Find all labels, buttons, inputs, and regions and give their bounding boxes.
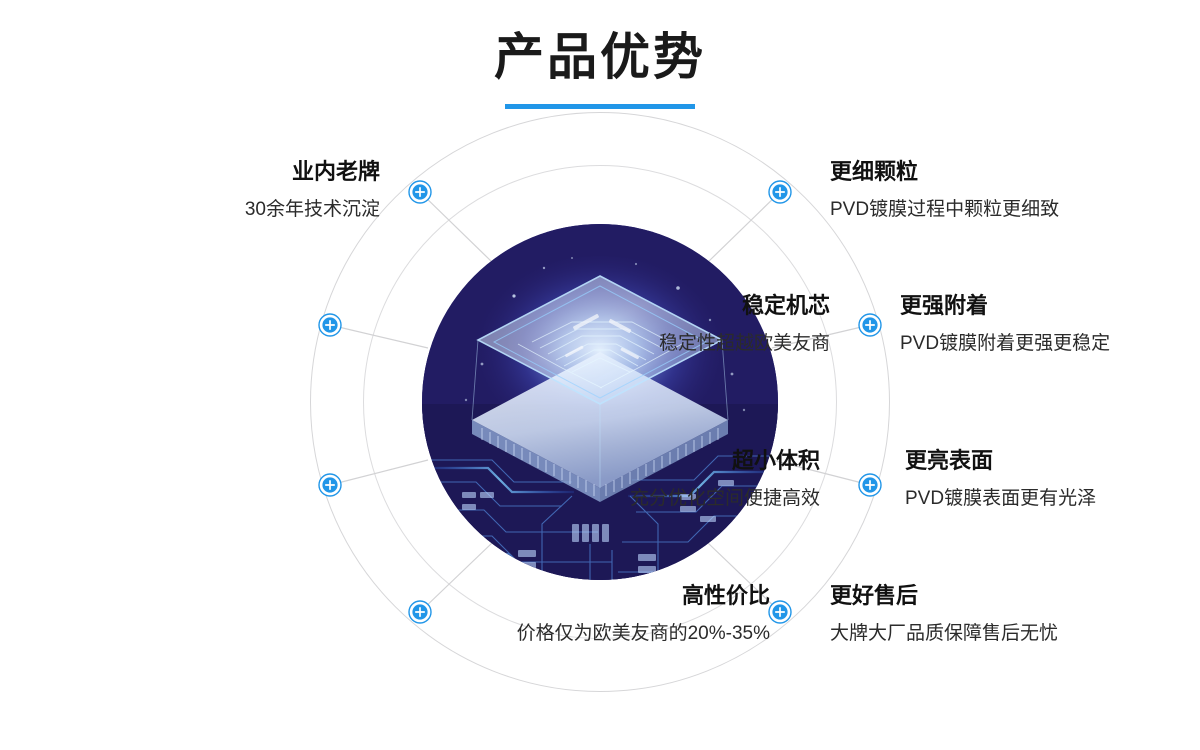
feature-title: 更强附着 — [900, 292, 1110, 320]
feature-desc: 充分优化空间便捷高效 — [630, 487, 820, 512]
page-title: 产品优势 — [0, 0, 1200, 82]
feature-title: 稳定机芯 — [659, 292, 830, 320]
feature-right-1: 更细颗粒 PVD镀膜过程中颗粒更细致 — [830, 158, 1059, 222]
plus-circle-icon[interactable] — [318, 473, 342, 497]
product-advantages-page: 产品优势 — [0, 0, 1200, 750]
plus-marker-left-1[interactable] — [408, 180, 432, 204]
feature-right-3: 更亮表面 PVD镀膜表面更有光泽 — [905, 447, 1096, 511]
feature-desc: 稳定性超越欧美友商 — [659, 332, 830, 357]
plus-circle-icon[interactable] — [408, 180, 432, 204]
plus-circle-icon[interactable] — [858, 473, 882, 497]
title-underline — [505, 104, 695, 109]
feature-title: 超小体积 — [630, 447, 820, 475]
feature-desc: PVD镀膜过程中颗粒更细致 — [830, 198, 1059, 223]
feature-desc: 大牌大厂品质保障售后无忧 — [830, 622, 1058, 647]
plus-marker-left-4[interactable] — [408, 600, 432, 624]
feature-left-1: 业内老牌 30余年技术沉淀 — [245, 158, 380, 222]
plus-marker-left-3[interactable] — [318, 473, 342, 497]
feature-left-2: 稳定机芯 稳定性超越欧美友商 — [659, 292, 830, 356]
plus-marker-right-4[interactable] — [768, 600, 792, 624]
center-chip-image — [422, 224, 778, 580]
plus-marker-right-2[interactable] — [858, 313, 882, 337]
feature-desc: 30余年技术沉淀 — [245, 198, 380, 223]
feature-left-3: 超小体积 充分优化空间便捷高效 — [630, 447, 820, 511]
feature-title: 高性价比 — [517, 582, 770, 610]
page-header: 产品优势 — [0, 0, 1200, 109]
plus-marker-right-3[interactable] — [858, 473, 882, 497]
plus-circle-icon[interactable] — [318, 313, 342, 337]
plus-circle-icon[interactable] — [858, 313, 882, 337]
feature-title: 更细颗粒 — [830, 158, 1059, 186]
feature-desc: PVD镀膜附着更强更稳定 — [900, 332, 1110, 357]
feature-right-4: 更好售后 大牌大厂品质保障售后无忧 — [830, 582, 1058, 646]
plus-circle-icon[interactable] — [408, 600, 432, 624]
feature-desc: PVD镀膜表面更有光泽 — [905, 487, 1096, 512]
feature-title: 业内老牌 — [245, 158, 380, 186]
feature-left-4: 高性价比 价格仅为欧美友商的20%-35% — [517, 582, 770, 646]
feature-desc: 价格仅为欧美友商的20%-35% — [517, 622, 770, 647]
feature-title: 更亮表面 — [905, 447, 1096, 475]
plus-circle-icon[interactable] — [768, 600, 792, 624]
feature-title: 更好售后 — [830, 582, 1058, 610]
plus-circle-icon[interactable] — [768, 180, 792, 204]
plus-marker-right-1[interactable] — [768, 180, 792, 204]
feature-right-2: 更强附着 PVD镀膜附着更强更稳定 — [900, 292, 1110, 356]
cpu-chip-graphic — [422, 224, 778, 580]
plus-marker-left-2[interactable] — [318, 313, 342, 337]
